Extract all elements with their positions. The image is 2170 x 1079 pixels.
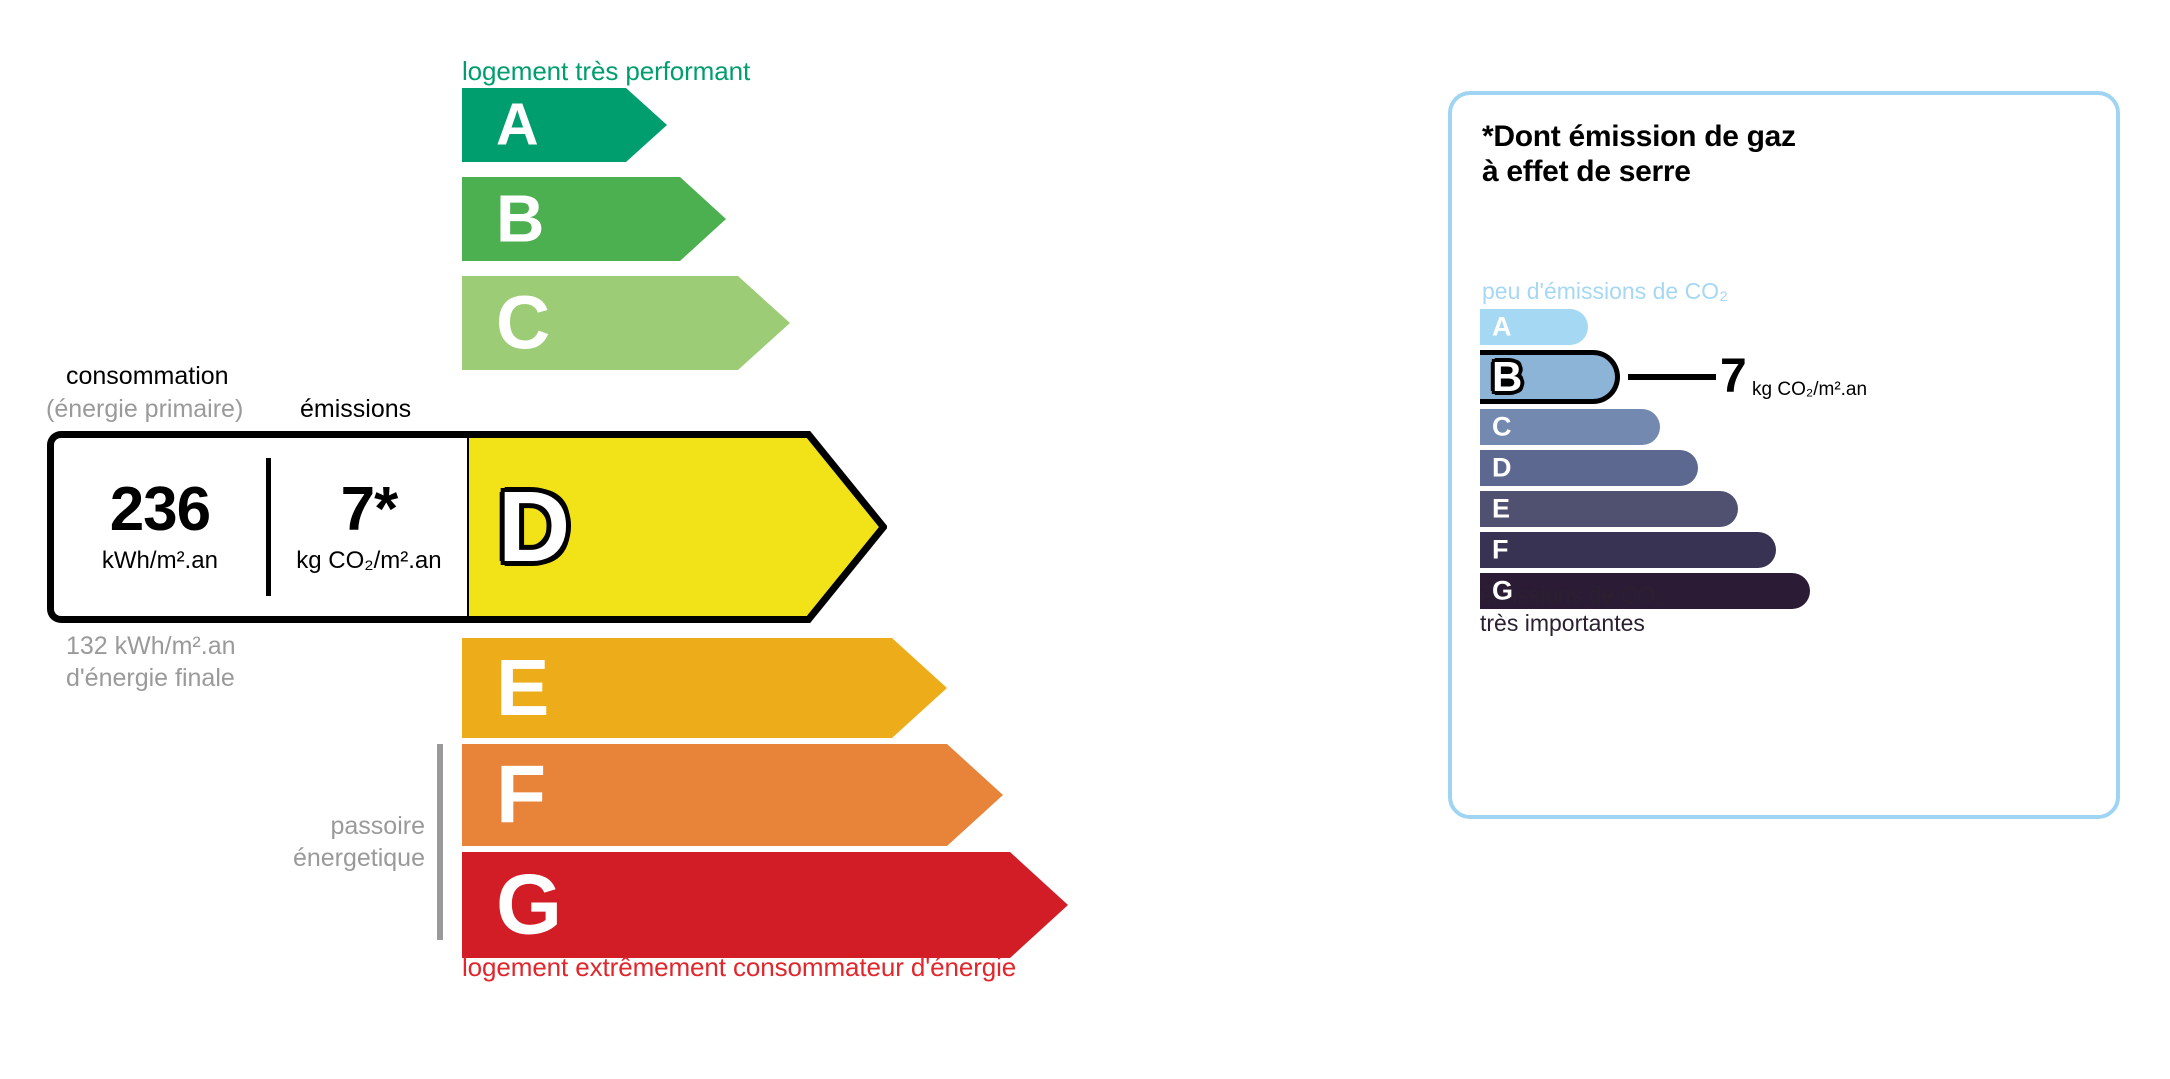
co2-class-row-c: C [1480, 409, 2100, 445]
co2-class-letter-a: A [1492, 314, 1512, 341]
energy-class-letter-a: A [496, 96, 539, 155]
emission-value: 7* [341, 479, 398, 541]
emissions-label: émissions [300, 395, 411, 424]
consommation-sublabel: (énergie primaire) [46, 395, 243, 424]
energy-class-row-c: C [462, 276, 790, 370]
co2-class-bars: AB7kg CO₂/m².anCDEFG [1480, 309, 2100, 614]
energy-class-row-g: G [462, 852, 1068, 958]
co2-bar-d [1480, 450, 1698, 486]
energy-arrow-d: D [462, 431, 887, 623]
energy-arrow-e: E [462, 638, 947, 738]
co2-top-caption: peu d'émissions de CO₂ [1482, 278, 1728, 305]
co2-bottom-line2: très importantes [1480, 610, 1664, 638]
co2-class-letter-b: B [1492, 356, 1522, 398]
passoire-label: passoire énergetique [280, 810, 425, 874]
consommation-label: consommation [66, 362, 229, 391]
co2-class-letter-e: E [1492, 496, 1510, 523]
energy-class-letter-g: G [496, 863, 562, 948]
energy-bottom-caption: logement extrêmement consommateur d'éner… [462, 952, 1016, 983]
energy-class-row-e: E [462, 638, 947, 738]
energy-class-row-a: A [462, 88, 667, 162]
final-energy-note: 132 kWh/m².an d'énergie finale [66, 630, 236, 694]
co2-class-row-f: F [1480, 532, 2100, 568]
energy-value-box: 236 kWh/m².an 7* kg CO₂/m².an [47, 431, 467, 623]
consumption-unit: kWh/m².an [102, 547, 218, 575]
co2-title-line2: à effet de serre [1482, 155, 1796, 190]
co2-bar-e [1480, 491, 1738, 527]
emission-cell: 7* kg CO₂/m².an [271, 438, 467, 616]
energy-arrow-g: G [462, 852, 1068, 958]
co2-leader-line [1628, 374, 1716, 380]
energy-class-row-f: F [462, 744, 1003, 846]
co2-class-row-a: A [1480, 309, 2100, 345]
co2-class-letter-c: C [1492, 414, 1512, 441]
energy-class-letter-c: C [496, 286, 550, 361]
co2-class-letter-g: G [1492, 578, 1513, 605]
consumption-value: 236 [110, 479, 210, 541]
passoire-line2: énergetique [280, 842, 425, 874]
energy-class-letter-d: D [498, 477, 570, 577]
final-energy-line2: d'énergie finale [66, 662, 236, 694]
passoire-line1: passoire [280, 810, 425, 842]
energy-class-letter-f: F [496, 754, 546, 836]
energy-class-row-d: D [462, 431, 887, 623]
passoire-marker-bar [437, 744, 443, 940]
co2-value: 7 [1720, 353, 1747, 401]
co2-panel-title: *Dont émission de gaz à effet de serre [1482, 120, 1796, 190]
energy-arrow-a: A [462, 88, 667, 162]
energy-class-letter-e: E [496, 648, 549, 728]
co2-class-letter-f: F [1492, 537, 1509, 564]
co2-value-unit: kg CO₂/m².an [1752, 379, 1867, 401]
final-energy-line1: 132 kWh/m².an [66, 630, 236, 662]
co2-class-row-d: D [1480, 450, 2100, 486]
co2-emissions-panel: *Dont émission de gaz à effet de serre p… [1448, 91, 2120, 819]
energy-arrow-f: F [462, 744, 1003, 846]
energy-arrow-c: C [462, 276, 790, 370]
energy-class-letter-b: B [496, 186, 544, 253]
value-box-labels: consommation (énergie primaire) émission… [0, 0, 470, 431]
energy-arrow-b: B [462, 177, 726, 261]
energy-performance-label: logement très performant ABCDEFG consomm… [0, 0, 1400, 1079]
co2-title-line1: *Dont émission de gaz [1482, 120, 1796, 155]
co2-class-letter-d: D [1492, 455, 1512, 482]
consumption-cell: 236 kWh/m².an [54, 438, 266, 616]
energy-class-row-b: B [462, 177, 726, 261]
co2-class-row-b: B7kg CO₂/m².an [1480, 350, 2100, 404]
co2-bar-f [1480, 532, 1776, 568]
emission-unit: kg CO₂/m².an [296, 547, 441, 575]
co2-class-row-e: E [1480, 491, 2100, 527]
